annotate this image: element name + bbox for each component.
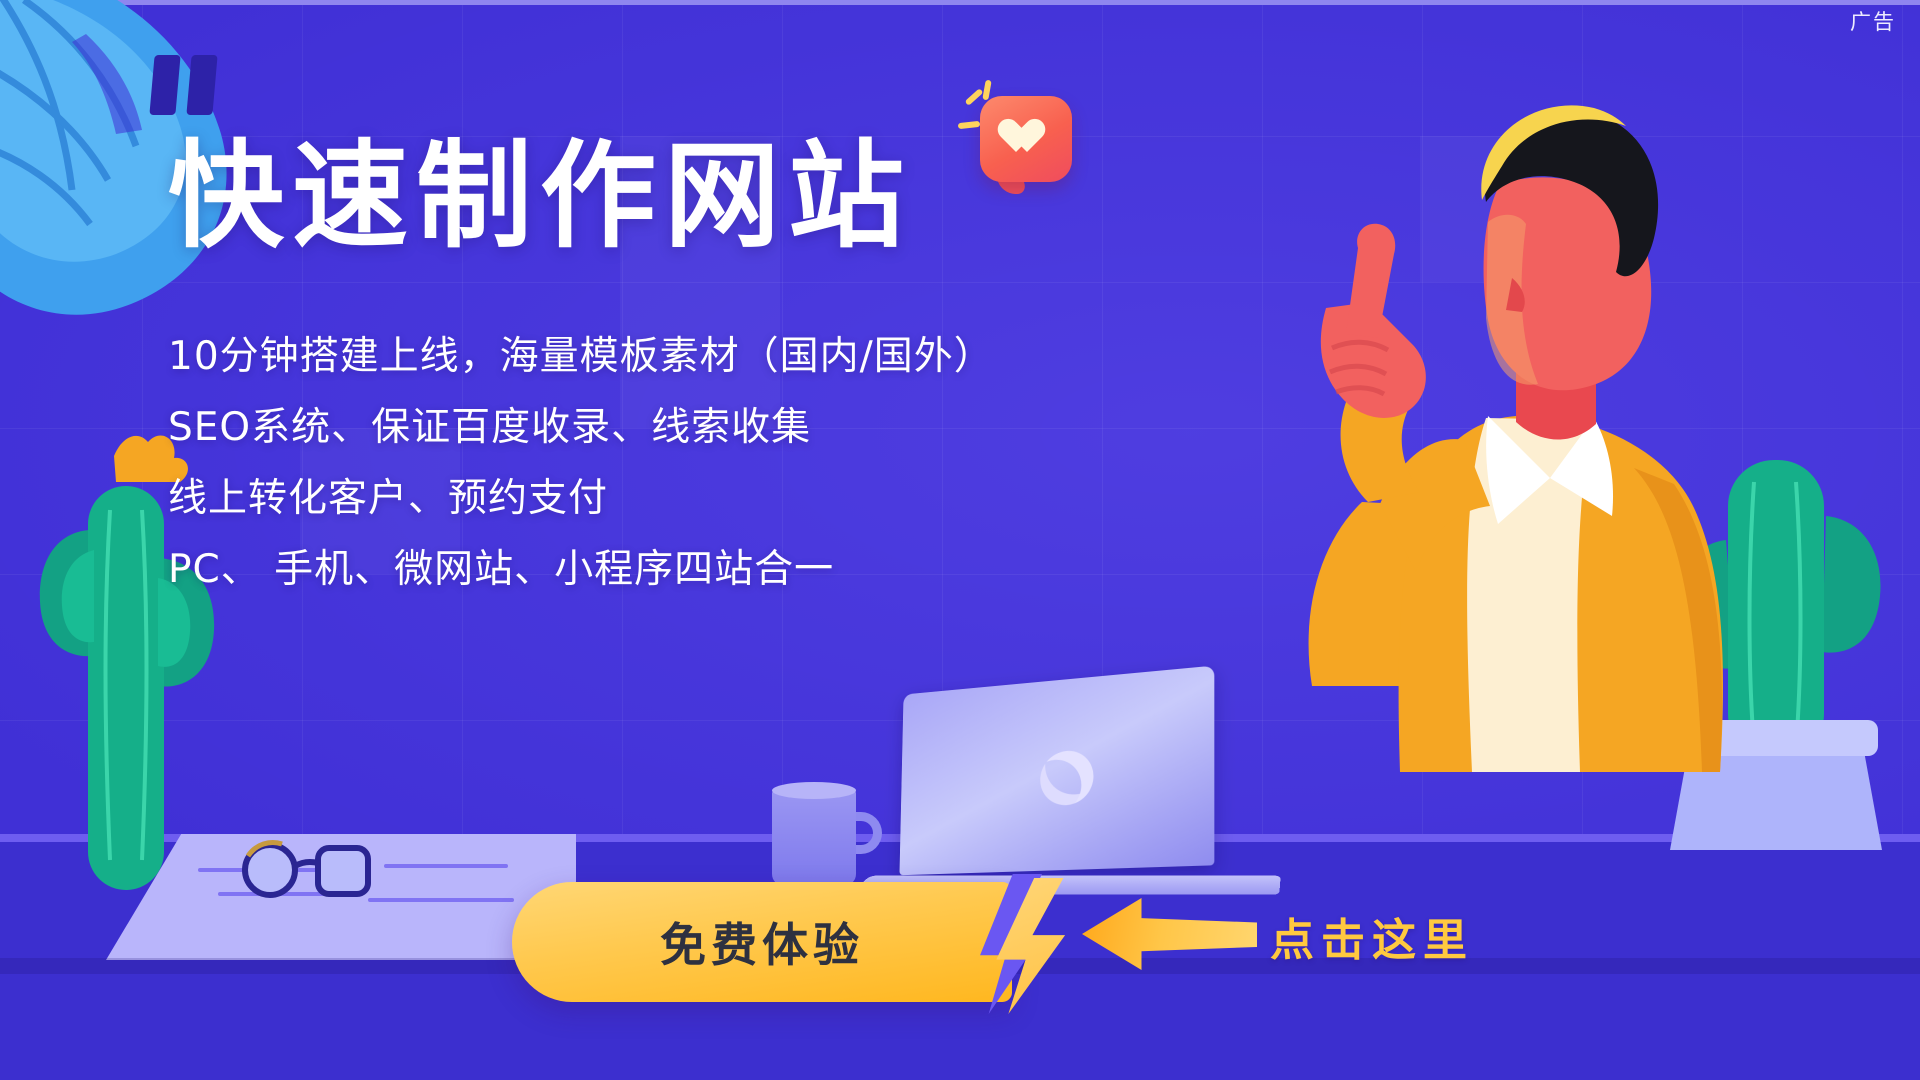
copy-block: 快速制作网站 10分钟搭建上线，海量模板素材（国内/国外） SEO系统、保证百度…	[168, 132, 988, 606]
spark-icon	[965, 88, 984, 106]
free-trial-button[interactable]: 免费体验	[512, 882, 1012, 1002]
list-item: 10分钟搭建上线，海量模板素材（国内/国外）	[168, 322, 988, 393]
lightning-bolt-icon	[968, 874, 1078, 1014]
list-item: 线上转化客户、预约支付	[168, 464, 988, 535]
crescent-moon-icon	[1034, 743, 1101, 813]
quote-mark-icon	[152, 55, 226, 120]
laptop-screen	[899, 666, 1214, 876]
eyeglasses-icon	[236, 836, 376, 900]
ad-banner[interactable]: 广告	[0, 0, 1920, 1080]
list-item: SEO系统、保证百度收录、线索收集	[168, 393, 988, 464]
click-here-label: 点击这里	[1270, 904, 1474, 968]
person-illustration	[1250, 72, 1770, 772]
list-item: PC、 手机、微网站、小程序四站合一	[168, 535, 988, 606]
free-trial-button-label: 免费体验	[660, 909, 864, 975]
page-title: 快速制作网站	[168, 132, 988, 262]
left-arrow-icon	[1082, 898, 1257, 970]
ad-label: 广告	[1850, 6, 1896, 36]
spark-icon	[958, 121, 981, 129]
coffee-mug-icon	[772, 780, 882, 890]
feature-list: 10分钟搭建上线，海量模板素材（国内/国外） SEO系统、保证百度收录、线索收集…	[168, 322, 988, 606]
